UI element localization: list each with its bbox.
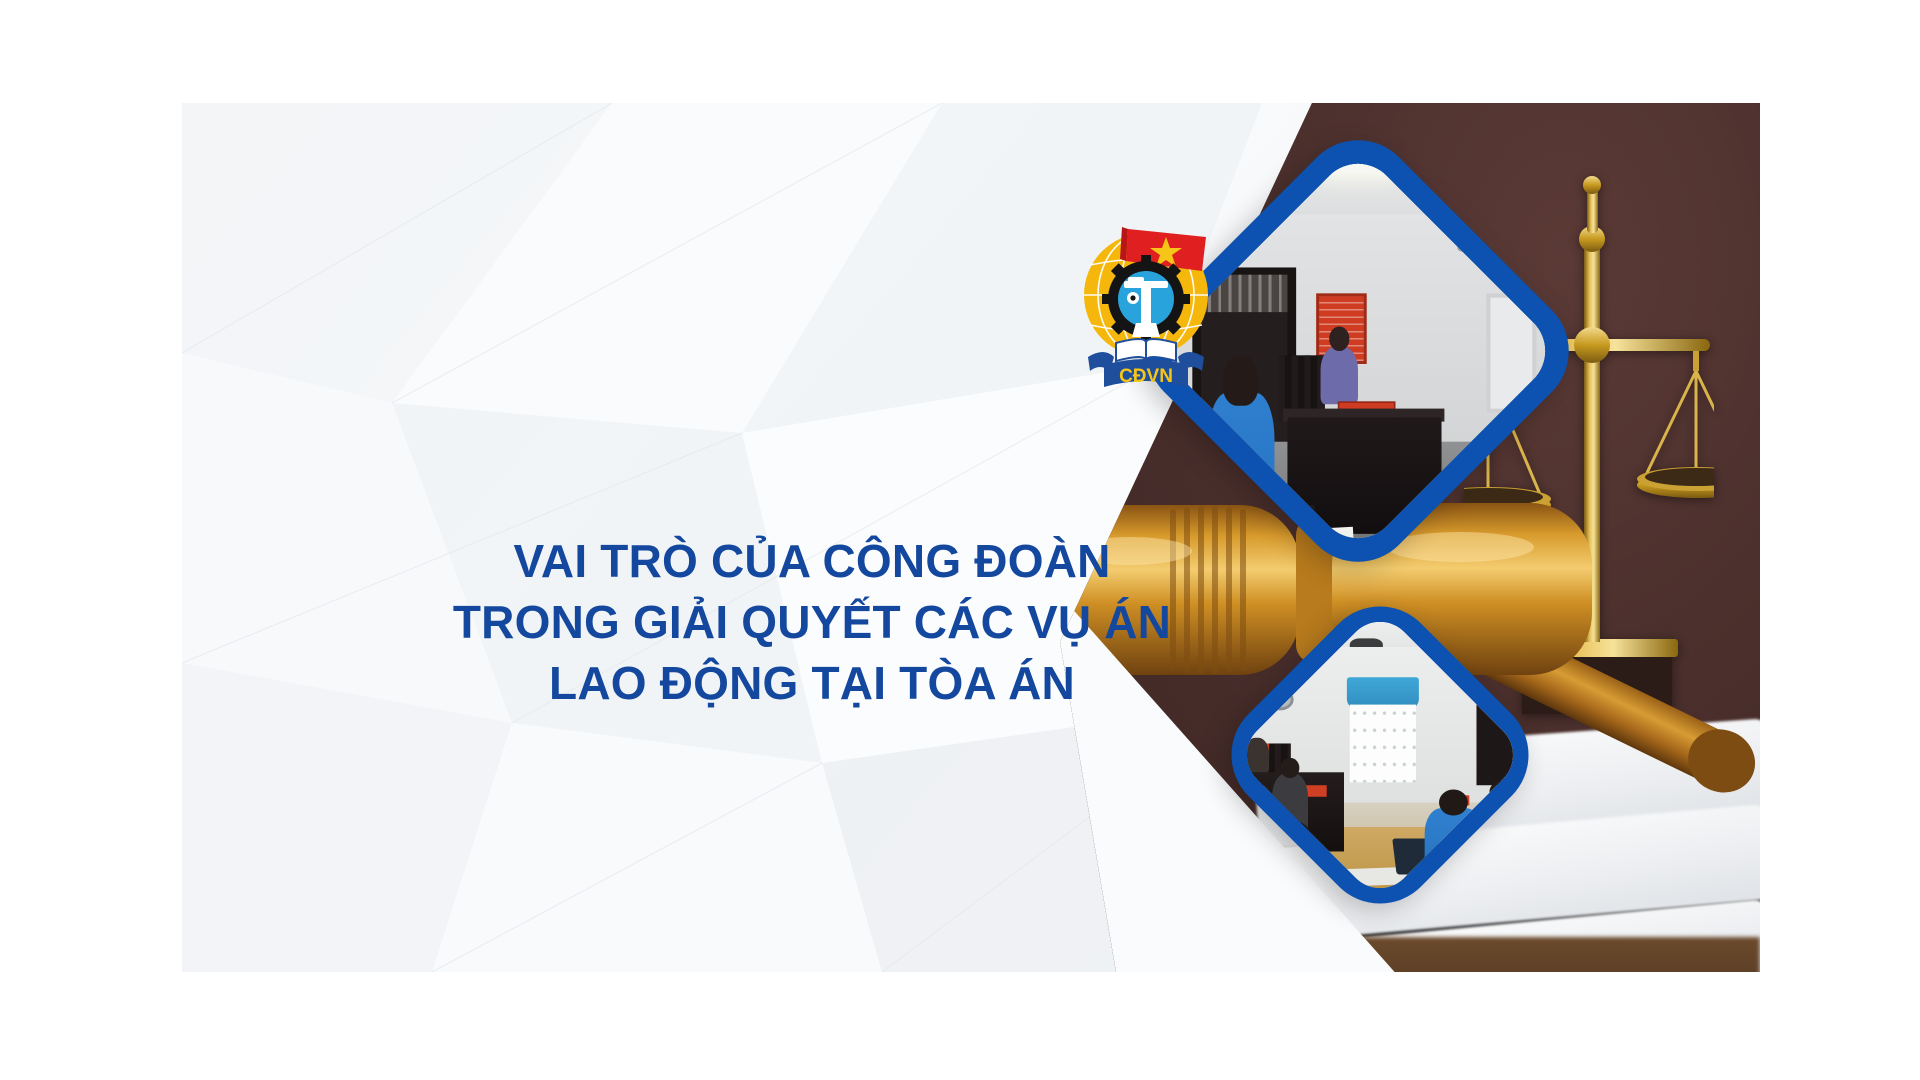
title-line-2: TRONG GIẢI QUYẾT CÁC VỤ ÁN xyxy=(352,592,1272,653)
title-line-3: LAO ĐỘNG TẠI TÒA ÁN xyxy=(352,653,1272,714)
banner-card: CĐVN VAI TRÒ CỦA CÔNG ĐOÀN TRONG GIẢI QU… xyxy=(182,103,1760,972)
window xyxy=(1350,704,1416,782)
title-line-1: VAI TRÒ CỦA CÔNG ĐOÀN xyxy=(352,531,1272,592)
court-officer xyxy=(1321,347,1358,405)
court-officer xyxy=(1245,737,1269,773)
judges-bench xyxy=(1287,417,1440,533)
logo-acronym: CĐVN xyxy=(1119,366,1173,387)
screenshot-root: CĐVN VAI TRÒ CỦA CÔNG ĐOÀN TRONG GIẢI QU… xyxy=(0,0,1920,1080)
wall-fan-icon xyxy=(1458,235,1483,252)
page-title: VAI TRÒ CỦA CÔNG ĐOÀN TRONG GIẢI QUYẾT C… xyxy=(352,531,1272,715)
side-door xyxy=(1487,293,1537,413)
ceiling-light xyxy=(1325,156,1395,173)
vietnam-trade-union-logo: CĐVN xyxy=(1070,215,1222,395)
